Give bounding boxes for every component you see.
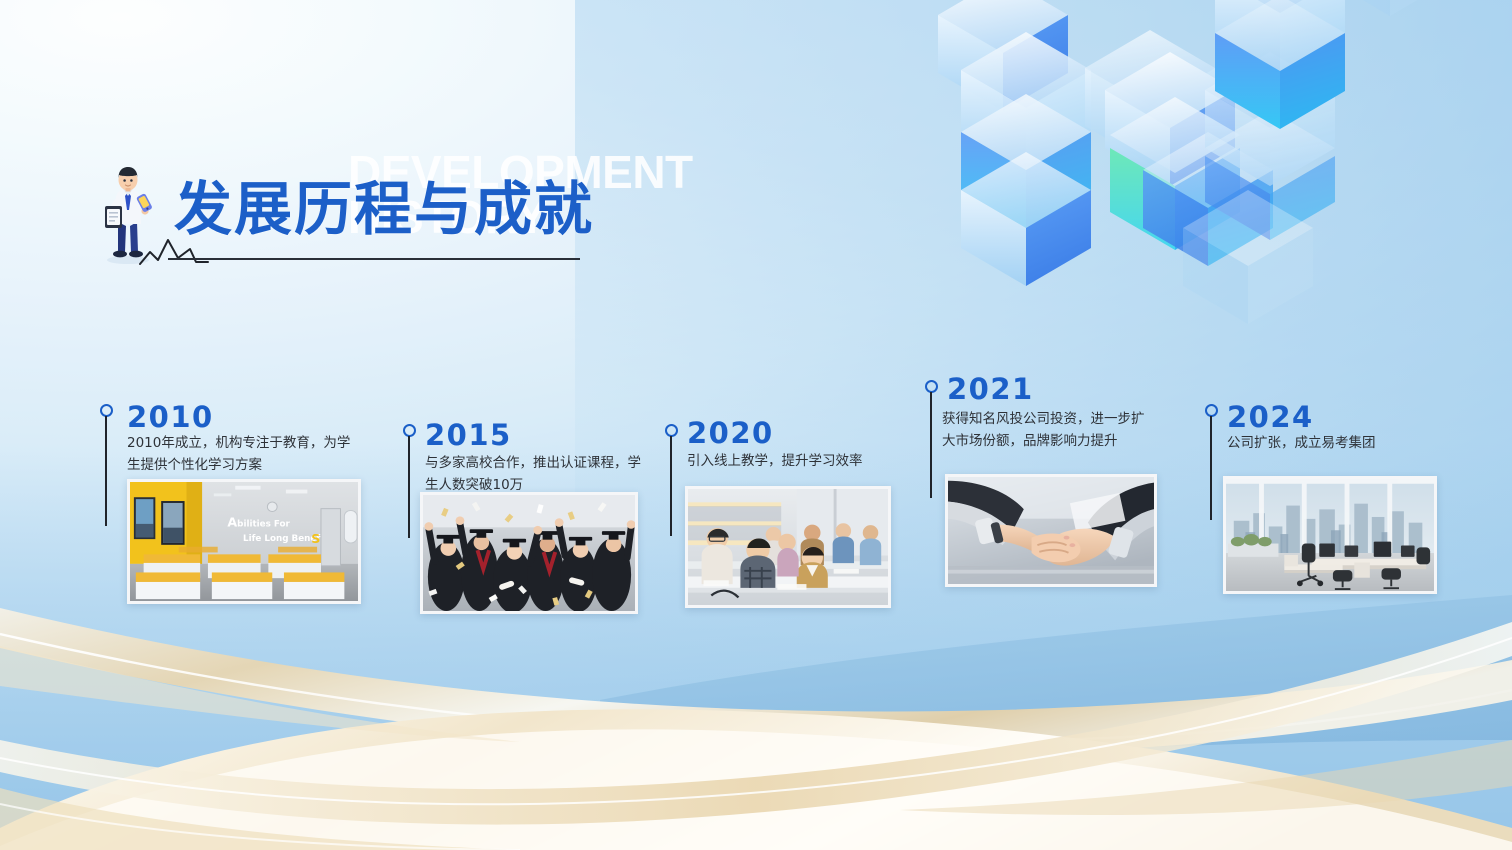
- timeline-connector: [105, 416, 107, 526]
- timeline-description: 2010年成立，机构专注于教育，为学生提供个性化学习方案: [127, 432, 352, 476]
- timeline-connector: [670, 436, 672, 536]
- timeline-description: 获得知名风投公司投资，进一步扩大市场份额，品牌影响力提升: [942, 408, 1152, 452]
- timeline-connector: [930, 392, 932, 498]
- classroom-photo[interactable]: A bilities For Life Long Benefit S: [127, 479, 361, 604]
- timeline-connector: [1210, 416, 1212, 520]
- timeline-year: 2015: [425, 420, 512, 450]
- online-classroom-students-photo[interactable]: [685, 486, 891, 608]
- graduation-celebration-photo[interactable]: [420, 492, 638, 614]
- slide-canvas: DEVELOPMENT HISTORY 发展历程与成就 2010 2010年成立…: [0, 0, 1512, 850]
- timeline-description: 引入线上教学，提升学习效率: [687, 450, 927, 472]
- timeline-connector: [408, 436, 410, 538]
- timeline-description: 公司扩张，成立易考集团: [1227, 432, 1457, 454]
- timeline-description: 与多家高校合作，推出认证课程，学生人数突破10万: [425, 452, 650, 496]
- handshake-photo[interactable]: [945, 474, 1157, 587]
- timeline-year: 2010: [127, 402, 214, 432]
- timeline-year: 2024: [1227, 402, 1314, 432]
- svg-text:bilities For: bilities For: [237, 520, 290, 530]
- svg-text:A: A: [227, 515, 237, 530]
- timeline-year: 2021: [947, 374, 1034, 404]
- timeline: 2010 2010年成立，机构专注于教育，为学生提供个性化学习方案: [0, 0, 1512, 850]
- timeline-year: 2020: [687, 418, 774, 448]
- modern-office-photo[interactable]: [1223, 476, 1437, 594]
- svg-text:S: S: [311, 531, 320, 546]
